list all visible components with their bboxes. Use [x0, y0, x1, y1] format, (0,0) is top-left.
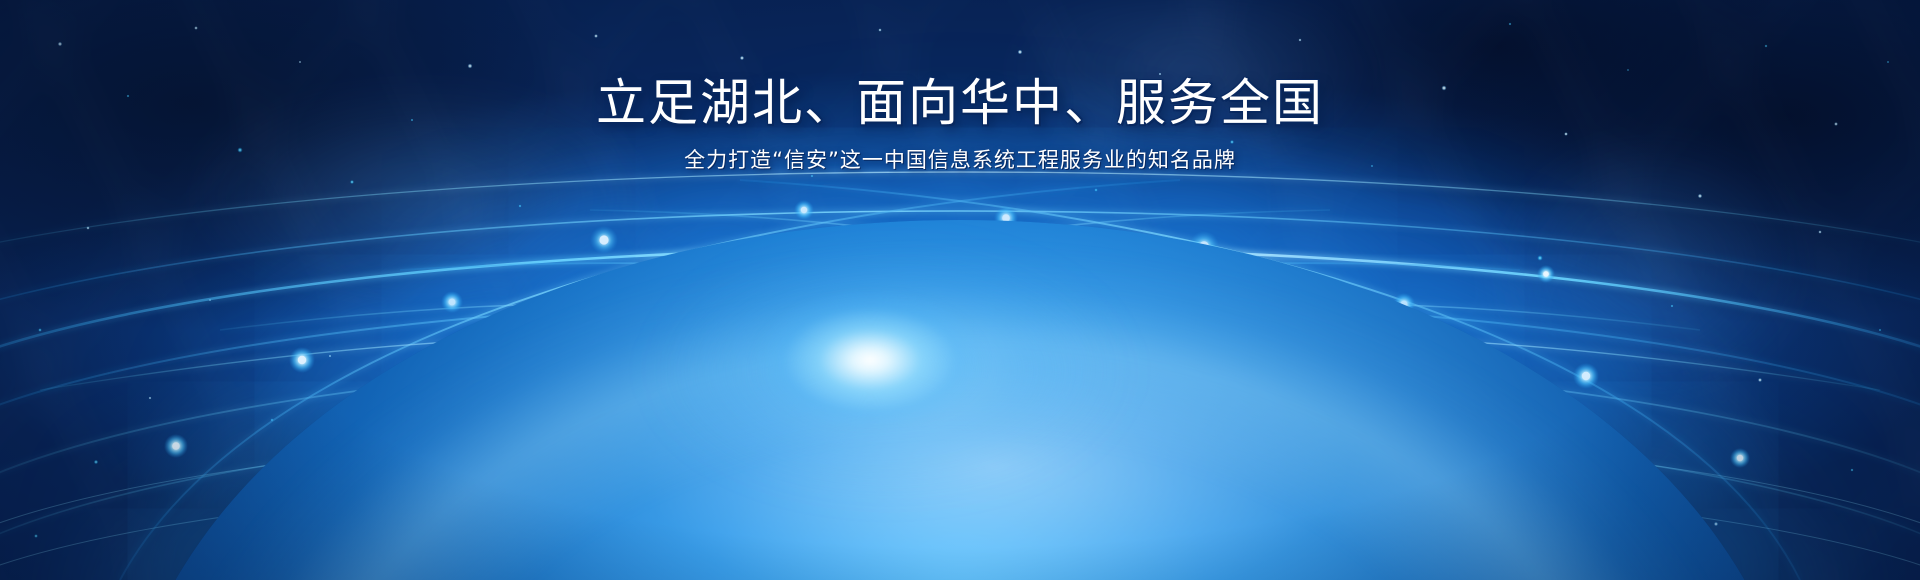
banner-copy: 立足湖北、面向华中、服务全国 全力打造“信安”这一中国信息系统工程服务业的知名品…: [0, 78, 1920, 171]
hero-banner: 立足湖北、面向华中、服务全国 全力打造“信安”这一中国信息系统工程服务业的知名品…: [0, 0, 1920, 580]
banner-headline: 立足湖北、面向华中、服务全国: [0, 78, 1920, 128]
banner-subheadline: 全力打造“信安”这一中国信息系统工程服务业的知名品牌: [0, 150, 1920, 171]
